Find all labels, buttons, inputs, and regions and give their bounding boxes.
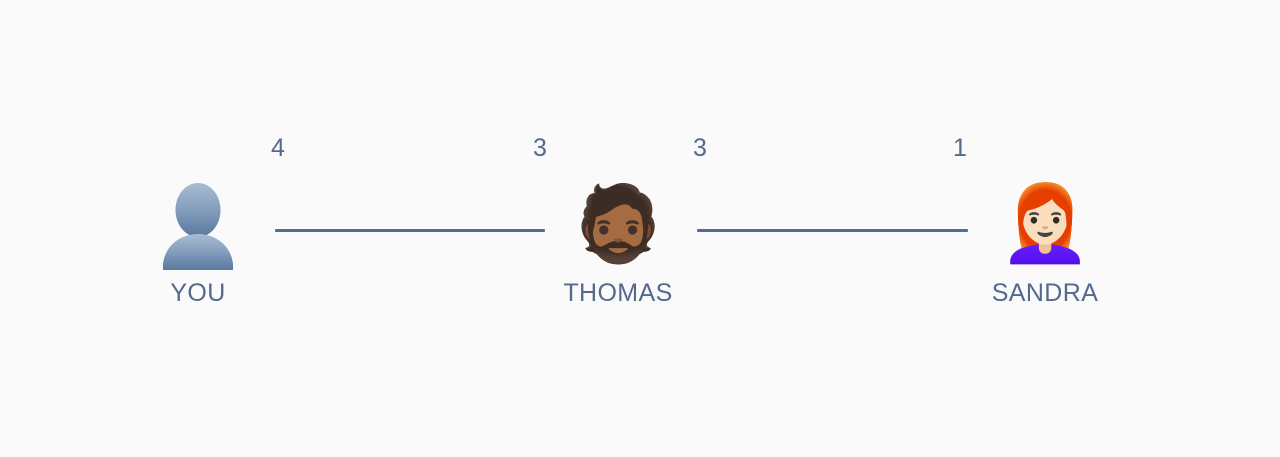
person-node-sandra[interactable]: 👩🏻‍🦰 SANDRA bbox=[945, 178, 1145, 308]
person-node-thomas[interactable]: 🧔🏾 THOMAS bbox=[518, 178, 718, 308]
person-node-you[interactable]: YOU bbox=[98, 178, 298, 308]
red-haired-woman-emoji-glyph: 👩🏻‍🦰 bbox=[999, 178, 1091, 270]
person-node-label: THOMAS bbox=[563, 279, 672, 308]
red-haired-woman-emoji-icon: 👩🏻‍🦰 bbox=[999, 178, 1091, 270]
person-node-label: YOU bbox=[170, 279, 225, 308]
connection-weight-thomas-left-side: 3 bbox=[520, 131, 560, 165]
bearded-man-emoji-glyph: 🧔🏾 bbox=[572, 178, 664, 270]
connection-weight-sandra-side: 1 bbox=[940, 131, 980, 165]
connector-line-thomas-sandra bbox=[697, 229, 968, 232]
bearded-man-emoji-icon: 🧔🏾 bbox=[572, 178, 664, 270]
person-silhouette-avatar-icon bbox=[152, 178, 244, 270]
person-node-label: SANDRA bbox=[992, 279, 1099, 308]
connection-chain-diagram: 4 3 3 1 YOU 🧔🏾 THOMAS bbox=[0, 0, 1280, 457]
connector-line-you-thomas bbox=[275, 229, 545, 232]
connection-weight-you-side: 4 bbox=[258, 131, 298, 165]
connection-weight-thomas-right-side: 3 bbox=[680, 131, 720, 165]
